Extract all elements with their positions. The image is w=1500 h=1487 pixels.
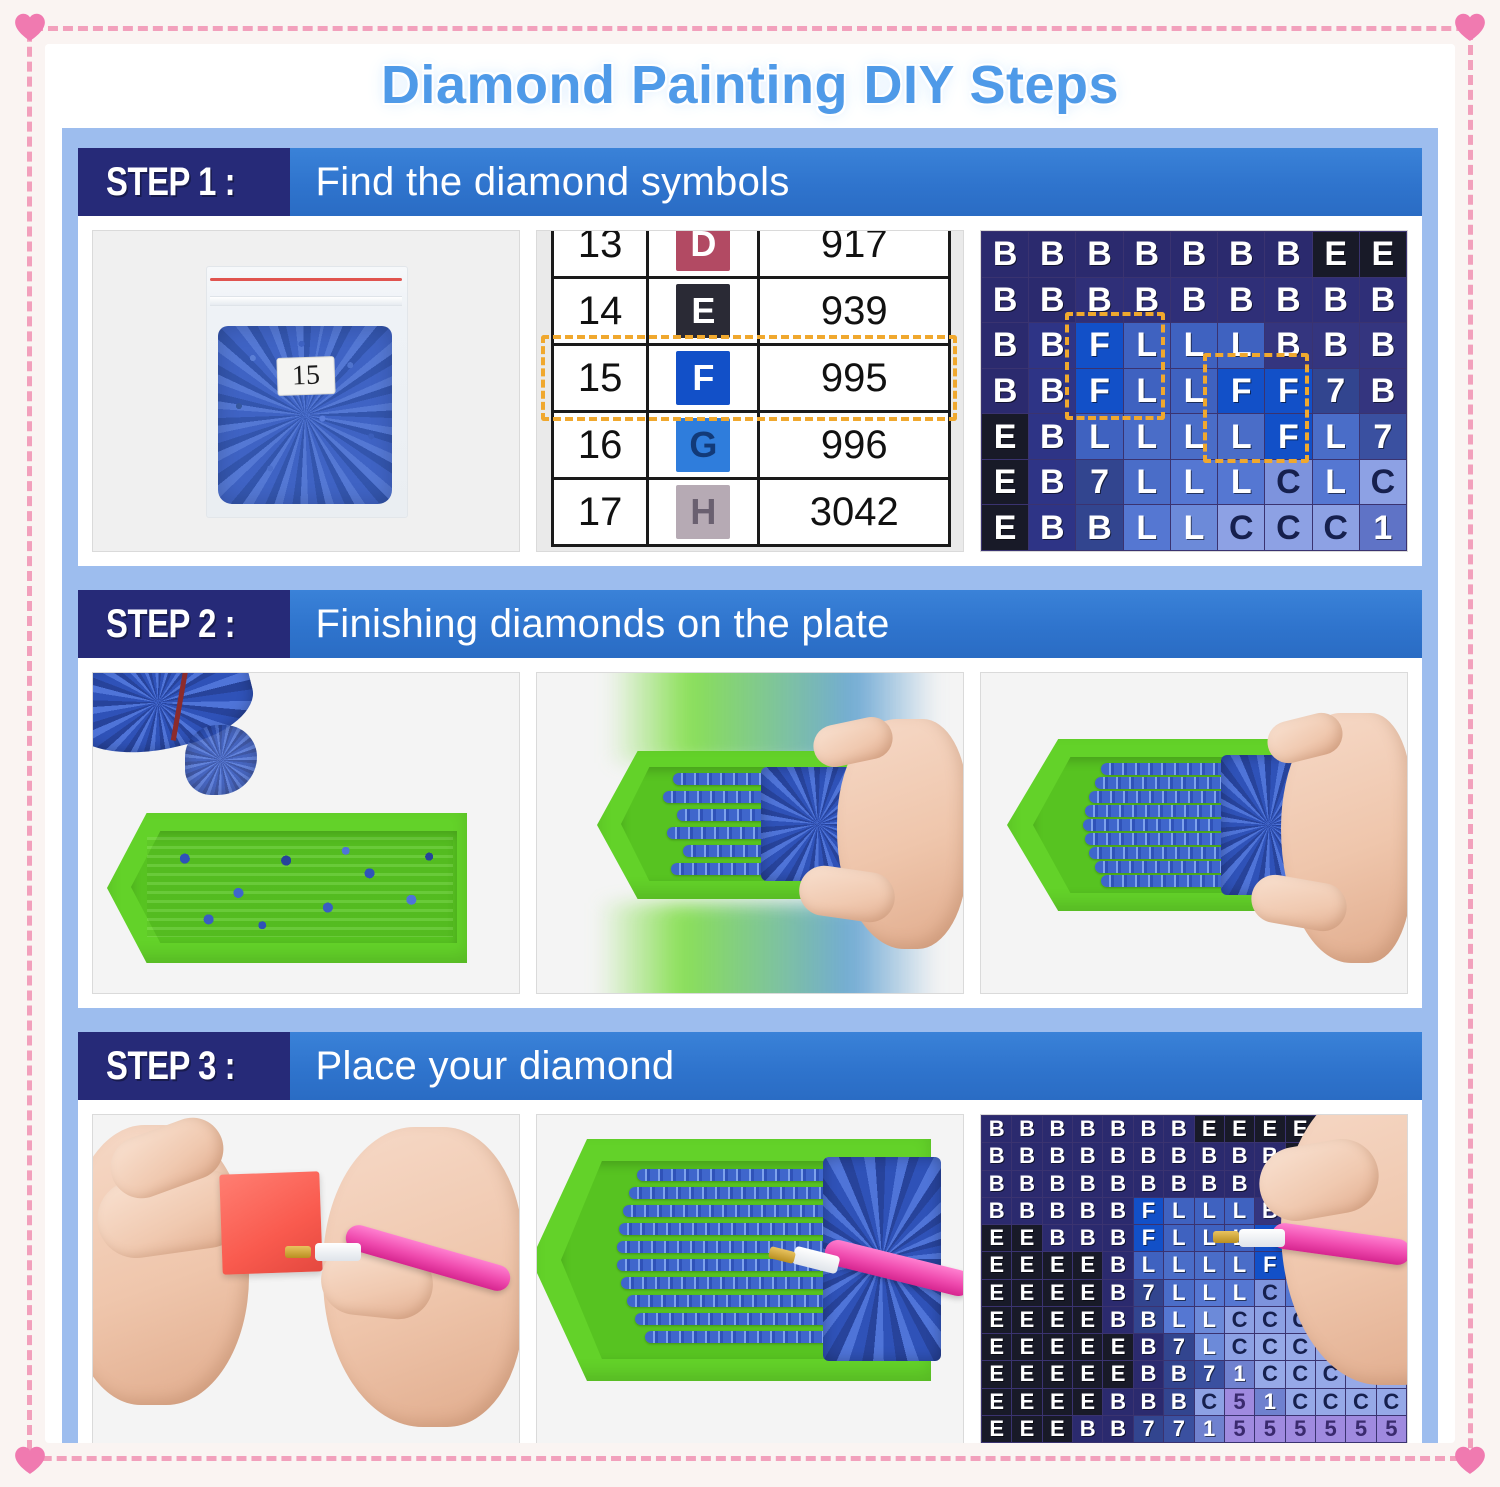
symbol-grid-cell: E — [1012, 1225, 1041, 1251]
symbol-grid-cell: B — [1029, 414, 1075, 459]
symbol-grid-cell: B — [982, 369, 1028, 414]
symbol-grid-cell: L — [1313, 460, 1359, 505]
symbol-grid-cell: B — [1103, 1171, 1132, 1197]
symbol-grid-cell: 5 — [1316, 1416, 1345, 1442]
symbol-grid-cell: B — [1134, 1171, 1163, 1197]
symbol-grid-cell: C — [1313, 505, 1359, 550]
dmc-row-symbol: D — [648, 230, 759, 278]
symbol-grid-cell: L — [1124, 323, 1170, 368]
symbol-grid-cell: B — [1029, 323, 1075, 368]
symbol-grid-cell: B — [1134, 1361, 1163, 1387]
dmc-row-code: 917 — [759, 230, 950, 278]
symbol-grid-cell: B — [1029, 232, 1075, 277]
symbol-grid-cell: E — [982, 414, 1028, 459]
symbol-grid-cell: B — [1012, 1198, 1041, 1224]
step-2-badge-label: STEP 2 : — [106, 602, 235, 647]
step-1-title: Find the diamond symbols — [290, 148, 790, 216]
symbol-grid-cell: 1 — [1255, 1389, 1284, 1415]
dmc-row-code: 939 — [759, 278, 950, 345]
dmc-row-number: 17 — [553, 479, 648, 546]
symbol-grid-cell: B — [1195, 1171, 1224, 1197]
symbol-grid-cell: L — [1134, 1252, 1163, 1278]
aligned-diamonds-photo — [980, 672, 1408, 994]
dmc-chart-row: 16G996 — [553, 412, 950, 479]
dmc-row-number: 13 — [553, 230, 648, 278]
symbol-grid-cell: 1 — [1195, 1416, 1224, 1442]
symbol-grid-cell: E — [1012, 1334, 1041, 1360]
symbol-grid-cell: B — [1043, 1116, 1072, 1142]
symbol-grid-cell: E — [1073, 1307, 1102, 1333]
step-2-badge: STEP 2 : — [78, 590, 290, 658]
step-1-badge-label: STEP 1 : — [106, 160, 235, 205]
step-3-badge: STEP 3 : — [78, 1032, 290, 1100]
symbol-grid-cell: B — [1029, 460, 1075, 505]
symbol-grid-cell: B — [1103, 1252, 1132, 1278]
pen-nib — [285, 1246, 311, 1258]
glue-pen-photo — [92, 1114, 520, 1443]
dmc-row-code: 996 — [759, 412, 950, 479]
symbol-grid-cell: B — [1225, 1171, 1254, 1197]
diamond-bag: 15 — [206, 266, 406, 516]
symbol-grid-cell: L — [1124, 414, 1170, 459]
symbol-grid-cell: E — [1073, 1361, 1102, 1387]
symbol-grid-cell: B — [1218, 232, 1264, 277]
symbol-grid-cell: L — [1218, 460, 1264, 505]
panel-top-gap — [62, 128, 1438, 148]
symbol-grid-cell: B — [1164, 1143, 1193, 1169]
step-2-title: Finishing diamonds on the plate — [290, 590, 890, 658]
symbol-grid-cell: B — [1103, 1116, 1132, 1142]
symbol-grid-cell: B — [1029, 278, 1075, 323]
symbol-grid-cell: C — [1255, 1334, 1284, 1360]
symbol-grid-cell: 7 — [1076, 460, 1122, 505]
symbol-grid-cell: C — [1218, 505, 1264, 550]
symbol-grid-cell: F — [1134, 1225, 1163, 1251]
symbol-grid-cell: E — [1012, 1307, 1041, 1333]
blue-diamond-beads — [218, 326, 392, 504]
symbol-grid-cell: C — [1255, 1361, 1284, 1387]
symbol-grid-cell: B — [1076, 232, 1122, 277]
symbol-grid-photo: BBBBBBBEEBBBBBBBBBBBFLLLBBBBBFLLFF7BEBLL… — [980, 230, 1408, 552]
dmc-row-number: 16 — [553, 412, 648, 479]
symbol-grid-cell: L — [1195, 1280, 1224, 1306]
symbol-grid-cell: B — [1103, 1143, 1132, 1169]
symbol-grid-cell: E — [982, 1361, 1011, 1387]
symbol-grid-cell: B — [982, 323, 1028, 368]
symbol-grid-cell: L — [1195, 1334, 1224, 1360]
picking-diamond-photo — [536, 1114, 964, 1443]
symbol-grid-cell: L — [1195, 1198, 1224, 1224]
heart-icon — [1453, 12, 1487, 42]
symbol-grid-cell: C — [1255, 1307, 1284, 1333]
symbol-grid-cell: B — [1073, 1171, 1102, 1197]
symbol-grid-cell: 7 — [1134, 1416, 1163, 1442]
symbol-grid-cell: E — [1313, 232, 1359, 277]
symbol-grid-cell: L — [1195, 1307, 1224, 1333]
symbol-grid-cell: C — [1225, 1307, 1254, 1333]
symbol-grid-cell: B — [1103, 1416, 1132, 1442]
symbol-grid-cell: E — [1012, 1280, 1041, 1306]
falling-beads — [185, 725, 257, 795]
symbol-grid-cell: E — [1012, 1389, 1041, 1415]
dmc-chart-row: 13D917 — [553, 230, 950, 278]
symbol-grid-cell: C — [1265, 460, 1311, 505]
dmc-row-code: 995 — [759, 345, 950, 412]
symbol-grid-cell: E — [1043, 1389, 1072, 1415]
symbol-grid-cell: E — [1012, 1252, 1041, 1278]
symbol-grid-cell: E — [982, 1389, 1011, 1415]
symbol-grid-cell: C — [1255, 1280, 1284, 1306]
symbol-grid-cell: E — [1360, 232, 1406, 277]
symbol-grid-cell: E — [1012, 1361, 1041, 1387]
canvas-grid-photo: BBBBBBBEEEEEEEBBBBBBBBBBEEBBBBBBBBBBBBBB… — [980, 1114, 1408, 1443]
symbol-grid-cell: B — [1164, 1116, 1193, 1142]
symbol-grid-cell: B — [982, 232, 1028, 277]
symbol-grid-cell: B — [1103, 1307, 1132, 1333]
dmc-row-symbol: G — [648, 412, 759, 479]
diamond-row — [629, 1187, 841, 1199]
dmc-chart-table: 13D91714E93915F99516G99617H3042 — [551, 230, 951, 547]
symbol-grid-cell: L — [1171, 414, 1217, 459]
steps-panel: STEP 1 : Find the diamond symbols 15 — [62, 128, 1438, 1443]
symbol-grid-cell: E — [982, 1416, 1011, 1442]
pen-tip — [315, 1243, 361, 1261]
symbol-grid-cell: L — [1218, 414, 1264, 459]
symbol-grid-cell: 7 — [1164, 1334, 1193, 1360]
symbol-grid-cell: E — [1255, 1116, 1284, 1142]
symbol-grid-cell: B — [1164, 1361, 1193, 1387]
symbol-grid-cell: C — [1377, 1389, 1406, 1415]
glue-scene — [93, 1115, 519, 1443]
symbol-grid-cell: L — [1164, 1280, 1193, 1306]
infographic-page: Diamond Painting DIY Steps STEP 1 : Find… — [0, 0, 1500, 1487]
symbol-grid-cell: B — [1043, 1225, 1072, 1251]
diamond-row — [623, 1205, 843, 1217]
symbol-grid-cell: E — [1043, 1416, 1072, 1442]
symbol-grid-cell: B — [1103, 1198, 1132, 1224]
symbol-grid-cell: C — [1346, 1389, 1375, 1415]
step-section-2: STEP 2 : Finishing diamonds on the plate — [78, 590, 1422, 1008]
symbol-grid-cell: B — [1134, 1143, 1163, 1169]
symbol-grid-cell: B — [1313, 278, 1359, 323]
bag-zip-strip — [210, 278, 402, 281]
symbol-grid-cell: B — [1043, 1198, 1072, 1224]
symbol-grid-cell: L — [1225, 1198, 1254, 1224]
symbol-grid-cell: 7 — [1195, 1361, 1224, 1387]
dmc-chart-photo: 13D91714E93915F99516G99617H3042 — [536, 230, 964, 552]
dmc-chart-row: 14E939 — [553, 278, 950, 345]
step-3-header: STEP 3 : Place your diamond — [78, 1032, 1422, 1100]
symbol-grid-cell: B — [982, 278, 1028, 323]
symbol-grid-cell: L — [1195, 1252, 1224, 1278]
symbol-grid-cell: B — [1103, 1280, 1132, 1306]
symbol-grid-cell: B — [1360, 278, 1406, 323]
symbol-grid-cell: L — [1225, 1280, 1254, 1306]
symbol-grid-cell: 7 — [1134, 1280, 1163, 1306]
symbol-grid-cell: C — [1286, 1389, 1315, 1415]
step-1-body: 15 13D91714E93915F99516G99617H3042 BBBBB… — [78, 216, 1422, 566]
dmc-row-number: 15 — [553, 345, 648, 412]
symbol-grid-cell: C — [1286, 1361, 1315, 1387]
symbol-grid-cell: B — [1073, 1143, 1102, 1169]
symbol-grid-cell: B — [1164, 1171, 1193, 1197]
symbol-grid-cell: B — [1134, 1307, 1163, 1333]
symbol-grid-cell: B — [1073, 1225, 1102, 1251]
symbol-grid-cell: 1 — [1225, 1361, 1254, 1387]
symbol-grid-cell: B — [1076, 278, 1122, 323]
pen-nib — [1213, 1231, 1239, 1243]
content-card: Diamond Painting DIY Steps STEP 1 : Find… — [45, 44, 1455, 1443]
symbol-grid-cell: L — [1225, 1252, 1254, 1278]
symbol-grid-cell: 7 — [1313, 369, 1359, 414]
symbol-grid-cell: C — [1360, 460, 1406, 505]
pen-tip — [1239, 1229, 1285, 1247]
symbol-grid-cell: E — [1103, 1361, 1132, 1387]
symbol-grid-cell: F — [1076, 369, 1122, 414]
symbol-grid-cell: B — [1073, 1116, 1102, 1142]
dmc-row-code: 3042 — [759, 479, 950, 546]
symbol-grid-cell: 7 — [1360, 414, 1406, 459]
dmc-chart-row: 17H3042 — [553, 479, 950, 546]
symbol-grid-cell: B — [1360, 369, 1406, 414]
symbol-grid-cell: E — [1103, 1334, 1132, 1360]
step-gap-1-2 — [62, 566, 1438, 590]
step-1-header: STEP 1 : Find the diamond symbols — [78, 148, 1422, 216]
symbol-grid-cell: B — [982, 1143, 1011, 1169]
symbol-grid-cell: 5 — [1346, 1416, 1375, 1442]
symbol-grid-cell: L — [1171, 460, 1217, 505]
symbol-grid-cell: B — [1103, 1389, 1132, 1415]
symbol-grid-cell: B — [1265, 323, 1311, 368]
symbol-grid-cell: E — [1043, 1252, 1072, 1278]
symbol-grid-cell: L — [1171, 323, 1217, 368]
diamond-row — [619, 1223, 845, 1235]
symbol-grid-cell: F — [1134, 1198, 1163, 1224]
symbol-grid-cell: C — [1316, 1389, 1345, 1415]
dmc-row-number: 14 — [553, 278, 648, 345]
bag-seal — [210, 296, 402, 306]
step-3-badge-label: STEP 3 : — [106, 1044, 235, 1089]
symbol-grid: BBBBBBBEEBBBBBBBBBBBFLLLBBBBBFLLFF7BEBLL… — [981, 231, 1407, 551]
symbol-grid-cell: L — [1164, 1252, 1193, 1278]
symbol-grid-cell: E — [1043, 1334, 1072, 1360]
symbol-grid-cell: B — [1043, 1171, 1072, 1197]
symbol-grid-cell: B — [1360, 323, 1406, 368]
step-3-title: Place your diamond — [290, 1032, 675, 1100]
glue-pad — [219, 1171, 322, 1274]
symbol-grid-cell: B — [1313, 323, 1359, 368]
symbol-grid-cell: B — [1124, 232, 1170, 277]
symbol-grid-cell: 5 — [1225, 1416, 1254, 1442]
symbol-grid-cell: L — [1171, 369, 1217, 414]
symbol-grid-cell: B — [1029, 505, 1075, 550]
symbol-grid-cell: B — [1225, 1143, 1254, 1169]
step-section-3: STEP 3 : Place your diamond — [78, 1032, 1422, 1443]
symbol-grid-cell: L — [1218, 323, 1264, 368]
symbol-grid-cell: E — [982, 460, 1028, 505]
symbol-grid-cell: F — [1265, 414, 1311, 459]
symbol-grid-cell: B — [1195, 1143, 1224, 1169]
aligned-scene — [981, 673, 1407, 993]
diamond-row — [621, 1277, 845, 1289]
diamond-bag-photo: 15 — [92, 230, 520, 552]
symbol-grid-cell: B — [982, 1116, 1011, 1142]
symbol-grid-cell: B — [1043, 1143, 1072, 1169]
title-bar: Diamond Painting DIY Steps — [45, 44, 1455, 126]
symbol-grid-cell: F — [1265, 369, 1311, 414]
symbol-grid-cell: 5 — [1377, 1416, 1406, 1442]
symbol-grid-cell: B — [1103, 1225, 1132, 1251]
symbol-grid-cell: E — [1012, 1416, 1041, 1442]
symbol-grid-cell: L — [1313, 414, 1359, 459]
symbol-grid-cell: L — [1124, 460, 1170, 505]
symbol-grid-cell: B — [1164, 1389, 1193, 1415]
symbol-grid-cell: B — [1171, 232, 1217, 277]
symbol-grid-cell: E — [1195, 1116, 1224, 1142]
symbol-grid-cell: E — [1043, 1361, 1072, 1387]
dmc-chart-row: 15F995 — [553, 345, 950, 412]
symbol-grid-cell: B — [1073, 1198, 1102, 1224]
symbol-grid-cell: E — [1225, 1116, 1254, 1142]
symbol-grid-cell: L — [1164, 1307, 1193, 1333]
symbol-grid-cell: 5 — [1225, 1389, 1254, 1415]
scattered-diamonds — [155, 839, 453, 937]
symbol-grid-cell: B — [982, 1171, 1011, 1197]
symbol-grid-cell: B — [1012, 1171, 1041, 1197]
step-1-badge: STEP 1 : — [78, 148, 290, 216]
step-gap-2-3 — [62, 1008, 1438, 1032]
pouring-diamonds-photo — [92, 672, 520, 994]
step-2-body — [78, 658, 1422, 1008]
symbol-grid-cell: B — [1134, 1116, 1163, 1142]
symbol-grid-cell: E — [982, 1252, 1011, 1278]
symbol-grid-cell: F — [1255, 1252, 1284, 1278]
symbol-grid-cell: B — [1134, 1334, 1163, 1360]
shaking-scene — [537, 673, 963, 993]
picking-scene — [537, 1115, 963, 1443]
symbol-grid-cell: 5 — [1286, 1416, 1315, 1442]
symbol-grid-cell: F — [1218, 369, 1264, 414]
symbol-grid-cell: B — [1265, 278, 1311, 323]
symbol-grid-cell: C — [1225, 1334, 1254, 1360]
symbol-grid-cell: L — [1124, 369, 1170, 414]
symbol-grid-cell: B — [1134, 1389, 1163, 1415]
dmc-row-symbol: H — [648, 479, 759, 546]
step-section-1: STEP 1 : Find the diamond symbols 15 — [78, 148, 1422, 566]
step-2-header: STEP 2 : Finishing diamonds on the plate — [78, 590, 1422, 658]
symbol-grid-cell: 7 — [1164, 1416, 1193, 1442]
symbol-grid-cell: B — [1124, 278, 1170, 323]
symbol-grid-cell: E — [1043, 1307, 1072, 1333]
symbol-grid-cell: 1 — [1360, 505, 1406, 550]
symbol-grid-cell: L — [1164, 1198, 1193, 1224]
step-3-body: BBBBBBBEEEEEEEBBBBBBBBBBEEBBBBBBBBBBBBBB… — [78, 1100, 1422, 1443]
symbol-grid-cell: B — [1265, 232, 1311, 277]
symbol-grid-cell: E — [1043, 1280, 1072, 1306]
symbol-grid-cell: B — [1029, 369, 1075, 414]
heart-icon — [1453, 1445, 1487, 1475]
symbol-grid-cell: F — [1076, 323, 1122, 368]
dmc-row-symbol: E — [648, 278, 759, 345]
symbol-grid-cell: E — [982, 505, 1028, 550]
diamond-row — [645, 1331, 839, 1343]
heart-icon — [13, 1445, 47, 1475]
page-title: Diamond Painting DIY Steps — [381, 54, 1119, 116]
symbol-grid-cell: E — [1073, 1389, 1102, 1415]
symbol-grid-cell: E — [1073, 1334, 1102, 1360]
symbol-grid-cell: C — [1265, 505, 1311, 550]
symbol-grid-cell: E — [982, 1307, 1011, 1333]
symbol-grid-cell: 5 — [1255, 1416, 1284, 1442]
symbol-grid-cell: E — [982, 1225, 1011, 1251]
symbol-grid-cell: E — [1073, 1252, 1102, 1278]
symbol-grid-cell: L — [1171, 505, 1217, 550]
symbol-grid-cell: B — [1012, 1116, 1041, 1142]
diamond-row — [635, 1313, 841, 1325]
heart-icon — [13, 12, 47, 42]
symbol-grid-cell: B — [982, 1198, 1011, 1224]
symbol-grid-cell: E — [982, 1280, 1011, 1306]
pouring-scene — [93, 673, 519, 993]
symbol-grid-cell: B — [1073, 1416, 1102, 1442]
dmc-row-symbol: F — [648, 345, 759, 412]
diamond-row — [637, 1169, 837, 1181]
symbol-grid-cell: B — [1012, 1143, 1041, 1169]
symbol-grid-cell: B — [1076, 505, 1122, 550]
diamond-row — [627, 1295, 843, 1307]
symbol-grid-cell: L — [1164, 1225, 1193, 1251]
symbol-grid-cell: C — [1195, 1389, 1224, 1415]
symbol-grid-cell: L — [1124, 505, 1170, 550]
symbol-grid-cell: B — [1218, 278, 1264, 323]
shaking-tray-photo — [536, 672, 964, 994]
symbol-grid-cell: B — [1171, 278, 1217, 323]
bag-number-label: 15 — [276, 356, 335, 396]
symbol-grid-cell: E — [1073, 1280, 1102, 1306]
symbol-grid-cell: E — [982, 1334, 1011, 1360]
symbol-grid-cell: L — [1076, 414, 1122, 459]
